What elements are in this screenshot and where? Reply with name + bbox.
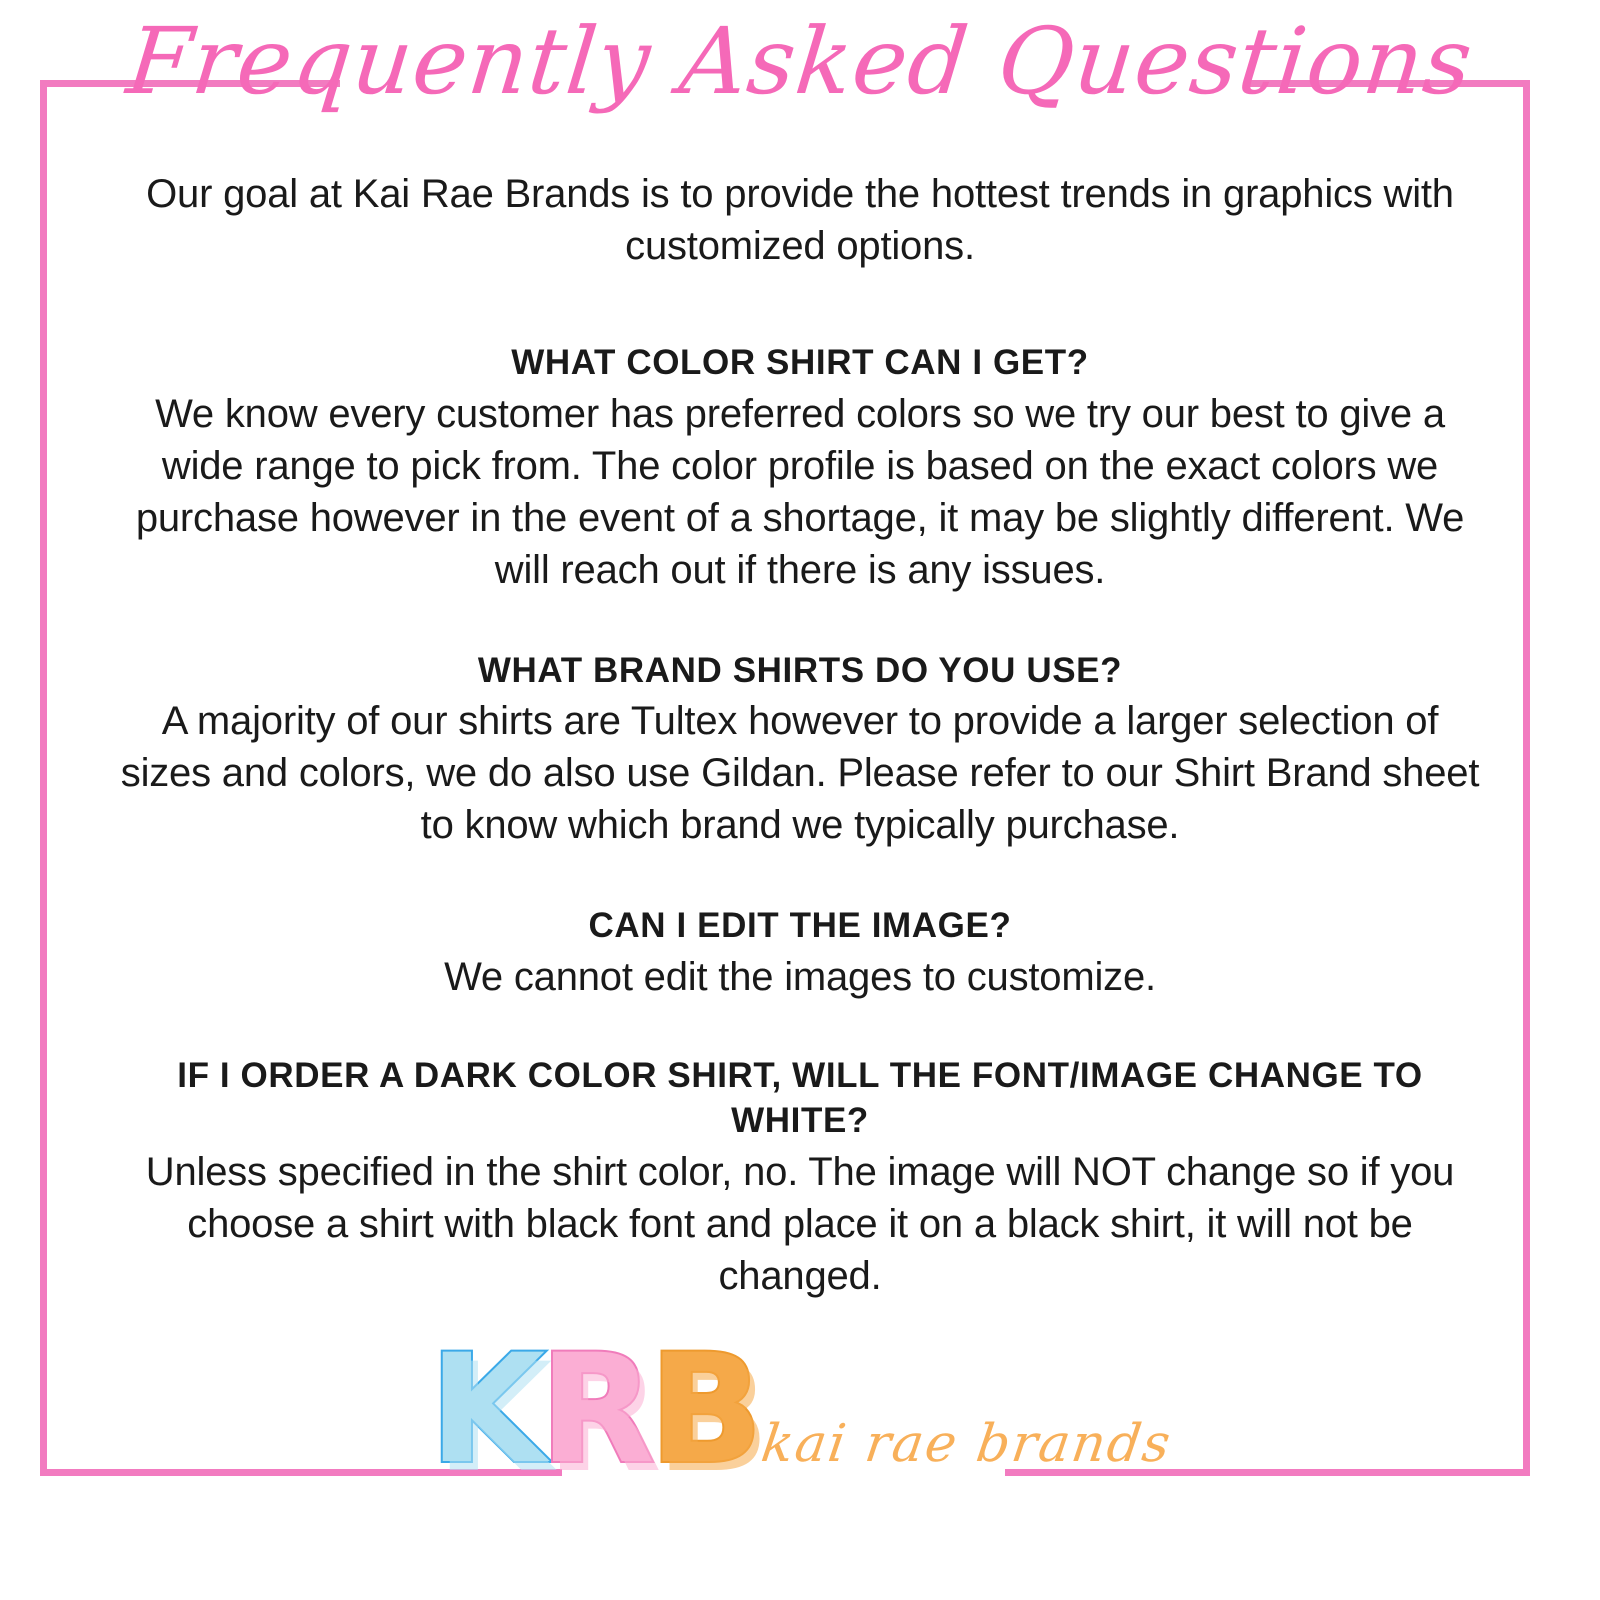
faq-item-4: IF I ORDER A DARK COLOR SHIRT, WILL THE … (110, 1053, 1490, 1302)
logo-wordmark: kai rae brands (757, 1414, 1175, 1474)
intro-paragraph: Our goal at Kai Rae Brands is to provide… (110, 168, 1490, 272)
faq-question-4: IF I ORDER A DARK COLOR SHIRT, WILL THE … (110, 1053, 1490, 1144)
frame-border-right (1523, 80, 1530, 1476)
faq-question-2: WHAT BRAND SHIRTS DO YOU USE? (110, 648, 1490, 694)
faq-answer-1: We know every customer has preferred col… (110, 388, 1490, 596)
section-spacer (110, 596, 1490, 648)
section-spacer (110, 1003, 1490, 1053)
faq-item-2: WHAT BRAND SHIRTS DO YOU USE? A majority… (110, 648, 1490, 852)
faq-item-1: WHAT COLOR SHIRT CAN I GET? We know ever… (110, 340, 1490, 596)
brand-logo: KRB kai rae brands (0, 1335, 1600, 1485)
faq-question-3: CAN I EDIT THE IMAGE? (110, 903, 1490, 949)
faq-answer-4: Unless specified in the shirt color, no.… (110, 1146, 1490, 1302)
page-title: Frequently Asked Questions (0, 6, 1600, 118)
logo-letter-b: B (649, 1335, 757, 1485)
logo-letters: KRB (429, 1335, 757, 1485)
logo-letter-k: K (429, 1335, 539, 1485)
faq-answer-3: We cannot edit the images to customize. (110, 951, 1490, 1003)
faq-question-1: WHAT COLOR SHIRT CAN I GET? (110, 340, 1490, 386)
logo-letter-r: R (539, 1335, 649, 1485)
section-spacer (110, 288, 1490, 340)
faq-answer-2: A majority of our shirts are Tultex howe… (110, 695, 1490, 851)
frame-border-left (40, 80, 47, 1476)
faq-item-3: CAN I EDIT THE IMAGE? We cannot edit the… (110, 903, 1490, 1003)
section-spacer (110, 851, 1490, 903)
faq-content: Our goal at Kai Rae Brands is to provide… (110, 168, 1490, 1302)
